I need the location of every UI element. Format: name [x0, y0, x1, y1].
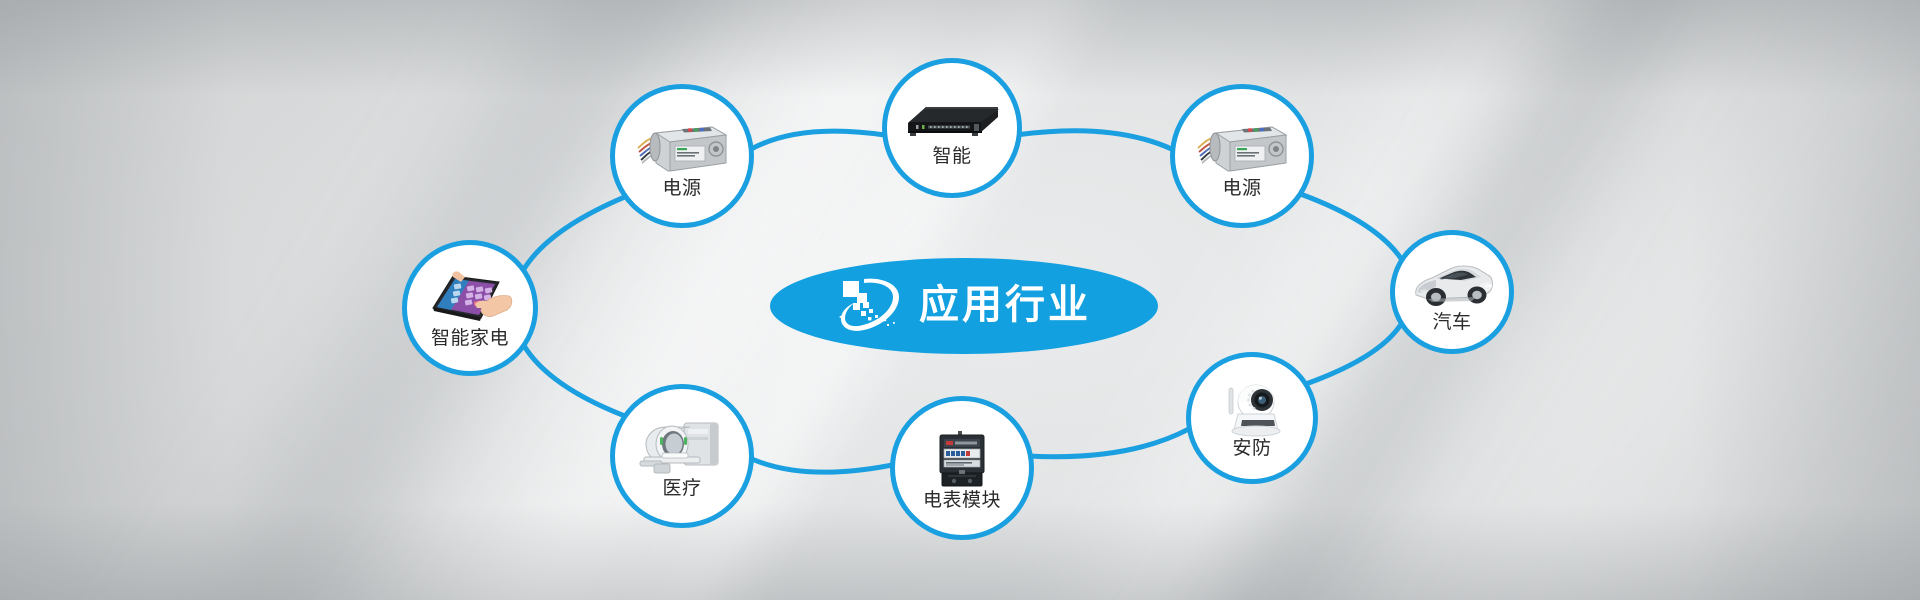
- tablet-touch-icon: [407, 267, 533, 329]
- center-title: 应用行业: [919, 285, 1091, 327]
- node-meter[interactable]: 电表模块: [890, 396, 1034, 540]
- connector-line: [752, 459, 892, 472]
- node-label: 安防: [1232, 439, 1271, 458]
- power-supply-icon: [1175, 113, 1309, 179]
- connector-line: [752, 131, 885, 149]
- connector-line: [1301, 194, 1402, 259]
- application-industries-banner: 电源: [0, 0, 1920, 600]
- connector-line: [1020, 131, 1173, 150]
- node-label: 智能家电: [431, 329, 509, 348]
- node-security[interactable]: 安防: [1186, 352, 1318, 484]
- node-smart-home[interactable]: 智能家电: [402, 240, 538, 376]
- power-supply-icon: [615, 113, 749, 179]
- node-label: 医疗: [662, 479, 701, 498]
- node-label: 汽车: [1432, 313, 1471, 332]
- node-medical[interactable]: 医疗: [610, 384, 754, 528]
- node-label: 电源: [662, 179, 701, 198]
- node-label: 电表模块: [923, 491, 1001, 510]
- connector-line: [1031, 429, 1189, 457]
- connector-line: [524, 197, 626, 270]
- mri-scanner-icon: [615, 415, 749, 479]
- center-badge: 应用行业: [770, 258, 1158, 354]
- node-power-right[interactable]: 电源: [1170, 84, 1314, 228]
- node-smart[interactable]: 智能: [882, 58, 1022, 198]
- node-power-left[interactable]: 电源: [610, 84, 754, 228]
- node-label: 电源: [1222, 179, 1261, 198]
- orbit-pixel-logo: [837, 276, 903, 336]
- connector-line: [1306, 324, 1401, 384]
- rack-server-icon: [887, 91, 1017, 147]
- node-automotive[interactable]: 汽车: [1390, 230, 1514, 354]
- node-label: 智能: [932, 147, 971, 166]
- connector-line: [524, 346, 625, 416]
- electric-meter-icon: [895, 429, 1029, 491]
- sports-car-icon: [1395, 255, 1509, 313]
- ip-camera-icon: [1191, 379, 1313, 439]
